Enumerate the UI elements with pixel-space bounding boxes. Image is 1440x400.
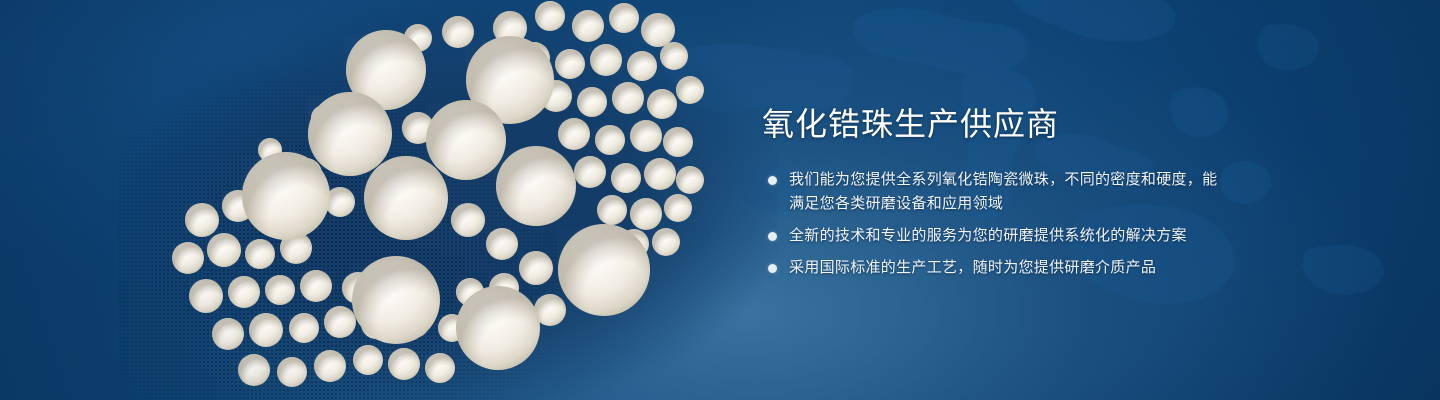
feature-text: 我们能为您提供全系列氧化锆陶瓷微珠，不同的密度和硬度，能满足您各类研磨设备和应用…	[789, 171, 1217, 212]
feature-item: 采用国际标准的生产工艺，随时为您提供研磨介质产品	[762, 256, 1232, 280]
bullet-dot-icon	[768, 232, 777, 241]
feature-text: 全新的技术和专业的服务为您的研磨提供系统化的解决方案	[789, 227, 1187, 244]
feature-item: 全新的技术和专业的服务为您的研磨提供系统化的解决方案	[762, 224, 1232, 248]
feature-item: 我们能为您提供全系列氧化锆陶瓷微珠，不同的密度和硬度，能满足您各类研磨设备和应用…	[762, 168, 1232, 216]
feature-text: 采用国际标准的生产工艺，随时为您提供研磨介质产品	[789, 259, 1156, 276]
bullet-dot-icon	[768, 176, 777, 185]
banner-feature-list: 我们能为您提供全系列氧化锆陶瓷微珠，不同的密度和硬度，能满足您各类研磨设备和应用…	[762, 168, 1232, 280]
bullet-dot-icon	[768, 264, 777, 273]
banner-copy: 氧化锆珠生产供应商 我们能为您提供全系列氧化锆陶瓷微珠，不同的密度和硬度，能满足…	[762, 104, 1232, 280]
banner-headline: 氧化锆珠生产供应商	[762, 104, 1232, 144]
hero-banner: 氧化锆珠生产供应商 我们能为您提供全系列氧化锆陶瓷微珠，不同的密度和硬度，能满足…	[0, 0, 1440, 400]
